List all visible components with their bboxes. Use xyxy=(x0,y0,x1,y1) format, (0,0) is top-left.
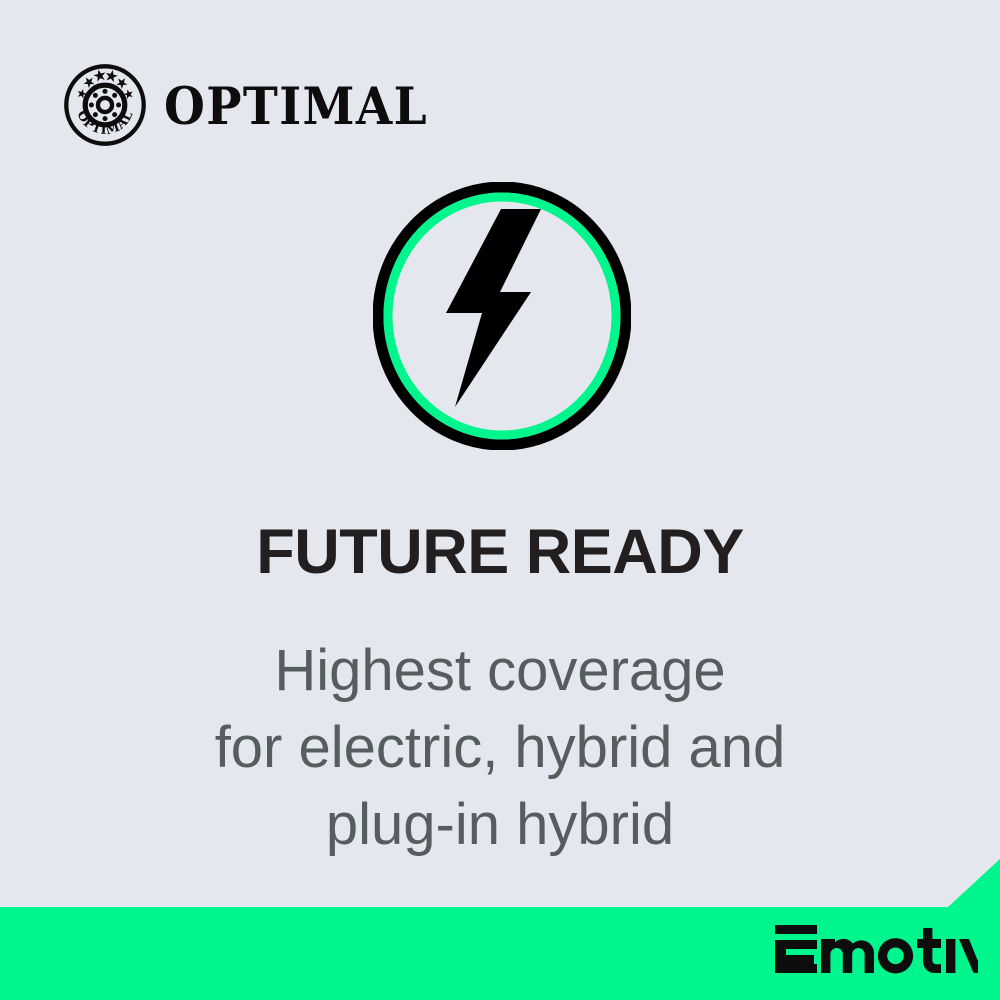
page-title: FUTURE READY xyxy=(0,521,1000,584)
emotive-wordmark-logo xyxy=(773,924,978,978)
lightning-bolt-icon xyxy=(446,209,541,407)
brand-wordmark: OPTIMAL xyxy=(164,82,428,133)
body-copy: Highest coverage for electric, hybrid an… xyxy=(0,632,1000,863)
body-line-1: Highest coverage xyxy=(0,632,1000,709)
body-line-3: plug-in hybrid xyxy=(0,786,1000,863)
promo-card: OPTIMAL OPTIMAL FUTURE READY Highest cov… xyxy=(0,0,1000,1000)
body-line-2: for electric, hybrid and xyxy=(0,709,1000,786)
future-ready-badge xyxy=(373,182,631,450)
brand-logo: OPTIMAL OPTIMAL xyxy=(62,62,451,153)
optimal-rosette-badge-icon: OPTIMAL xyxy=(62,62,148,153)
